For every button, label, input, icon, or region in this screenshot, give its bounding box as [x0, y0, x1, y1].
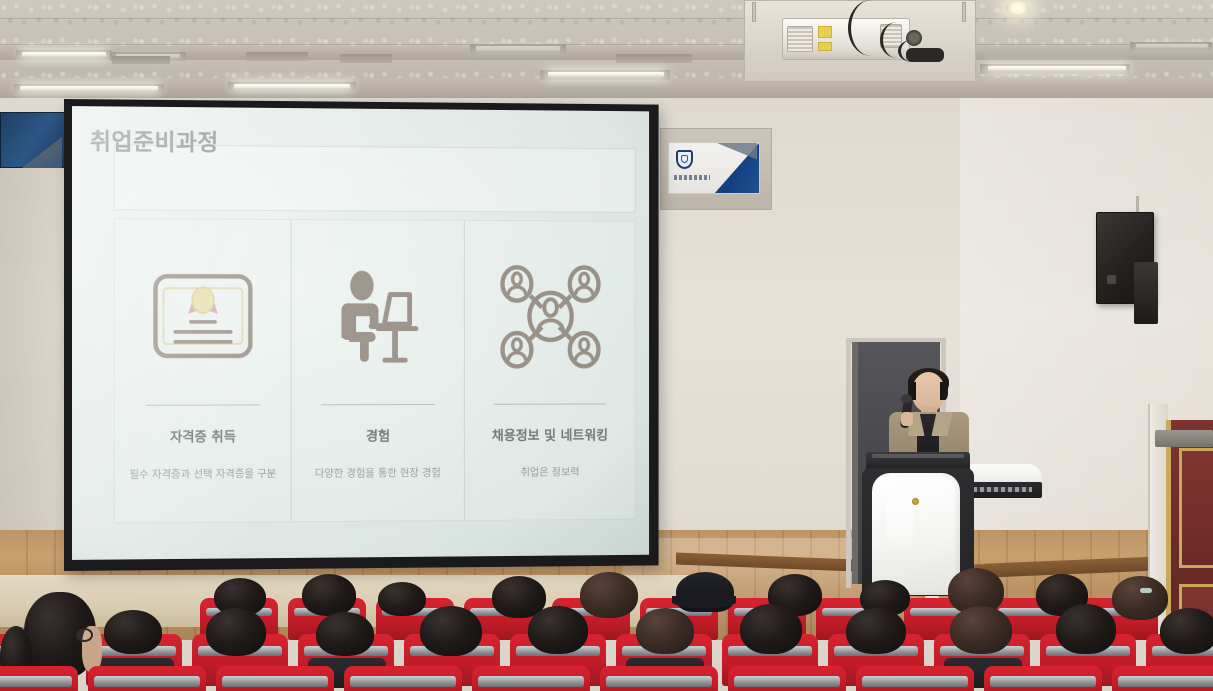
- presentation-slide: 취업준비과정: [72, 106, 649, 560]
- ceiling-beam: [0, 78, 1213, 98]
- seat-bar: [478, 676, 584, 687]
- ceiling-grid-line: [0, 18, 1213, 19]
- projection-screen-surface: 취업준비과정: [72, 106, 649, 560]
- banner-text-lines: [674, 175, 710, 180]
- network-people-icon-svg: [497, 262, 603, 370]
- audience-head: [528, 606, 588, 654]
- person-at-laptop-icon-svg: [329, 269, 426, 364]
- ceiling-light-strip: [22, 52, 106, 57]
- seat-bar: [1118, 676, 1213, 687]
- audience-head: [950, 606, 1012, 654]
- ceiling-light-strip: [234, 84, 350, 89]
- light-recess: [616, 54, 692, 63]
- projector-label: [818, 42, 832, 51]
- person-at-laptop-icon: [301, 242, 454, 391]
- slide-content-card: 자격증 취득 필수 자격증과 선택 자격증을 구분: [114, 218, 636, 523]
- ceiling-light-strip: [476, 46, 560, 51]
- audience-head: [316, 612, 374, 656]
- audience-head: [580, 572, 638, 618]
- column-divider-rule: [494, 403, 606, 404]
- column-description: 다양한 경험을 통한 현장 경험: [315, 466, 441, 481]
- door-closer-hardware: [1155, 430, 1213, 447]
- column-label: 경험: [366, 425, 390, 445]
- seat-bar: [350, 676, 456, 687]
- audience-head: [740, 604, 802, 654]
- slide-column-networking: 채용정보 및 네트워킹 취업은 정보력: [464, 221, 635, 520]
- audience-seating: [0, 560, 1213, 691]
- seat-bar: [862, 676, 968, 687]
- eyeglasses-icon: [76, 628, 93, 642]
- light-recess: [246, 52, 308, 61]
- projector-vent: [787, 26, 813, 52]
- audience-head: [420, 606, 482, 656]
- light-recess: [112, 56, 170, 64]
- ceiling-downlight: [1006, 2, 1030, 14]
- speaker-bracket: [1134, 262, 1158, 324]
- audience-head: [302, 574, 356, 616]
- podium-top-highlight: [872, 454, 964, 458]
- seat-bar: [990, 676, 1096, 687]
- school-emblem-icon: [676, 150, 693, 169]
- light-recess: [340, 54, 392, 63]
- speaker-port-icon: [1107, 275, 1116, 284]
- seat-bar: [734, 676, 840, 687]
- column-label: 자격증 취득: [170, 425, 236, 445]
- ceiling-light-strip: [548, 72, 664, 77]
- audience-head: [1056, 604, 1116, 654]
- microphone-head-icon: [901, 394, 912, 403]
- audience-head: [846, 608, 906, 654]
- audience-head: [104, 610, 162, 654]
- audience-head: [1160, 608, 1213, 654]
- seat-bar: [94, 676, 200, 687]
- projector-connector: [906, 48, 944, 62]
- projector-rod: [962, 2, 966, 22]
- seat-bar: [0, 676, 72, 687]
- cap-brim: [672, 596, 736, 608]
- school-banner: [668, 142, 760, 194]
- ceiling-light-strip: [988, 66, 1126, 71]
- column-label: 채용정보 및 네트워킹: [492, 424, 608, 444]
- presenter-hand: [901, 412, 913, 426]
- slide-column-certification: 자격증 취득 필수 자격증과 선택 자격증을 구분: [115, 219, 291, 522]
- podium-gloss: [886, 492, 914, 552]
- column-description: 취업은 정보력: [521, 465, 580, 480]
- auditorium-scene: 취업준비과정: [0, 0, 1213, 691]
- ceiling-grid-line: [0, 44, 1213, 45]
- audience-head: [636, 608, 694, 654]
- column-divider-rule: [145, 404, 260, 405]
- seat-bar: [606, 676, 712, 687]
- seat-bar: [222, 676, 328, 687]
- audience-head: [1112, 576, 1168, 620]
- door-panel-upper: [1179, 448, 1213, 568]
- presenter-hair-side: [940, 382, 948, 400]
- network-people-icon: [475, 243, 626, 391]
- audience-head: [206, 608, 266, 656]
- hair-clip: [1140, 588, 1152, 593]
- audience-head: [378, 582, 426, 616]
- column-description: 필수 자격증과 선택 자격증을 구분: [129, 467, 276, 482]
- slide-title: 취업준비과정: [90, 122, 219, 157]
- projection-screen: 취업준비과정: [64, 99, 659, 571]
- projector-label: [818, 26, 832, 38]
- column-divider-rule: [321, 404, 434, 405]
- ceiling-light-strip: [20, 86, 158, 91]
- emblem-inner: [681, 155, 688, 163]
- projector-rod: [752, 2, 756, 22]
- slide-column-experience: 경험 다양한 경험을 통한 현장 경험: [291, 220, 464, 521]
- certificate-icon-svg: [150, 270, 257, 362]
- ceiling-light-strip: [1136, 44, 1208, 48]
- podium-emblem-icon: [912, 498, 919, 505]
- certificate-icon: [125, 241, 281, 391]
